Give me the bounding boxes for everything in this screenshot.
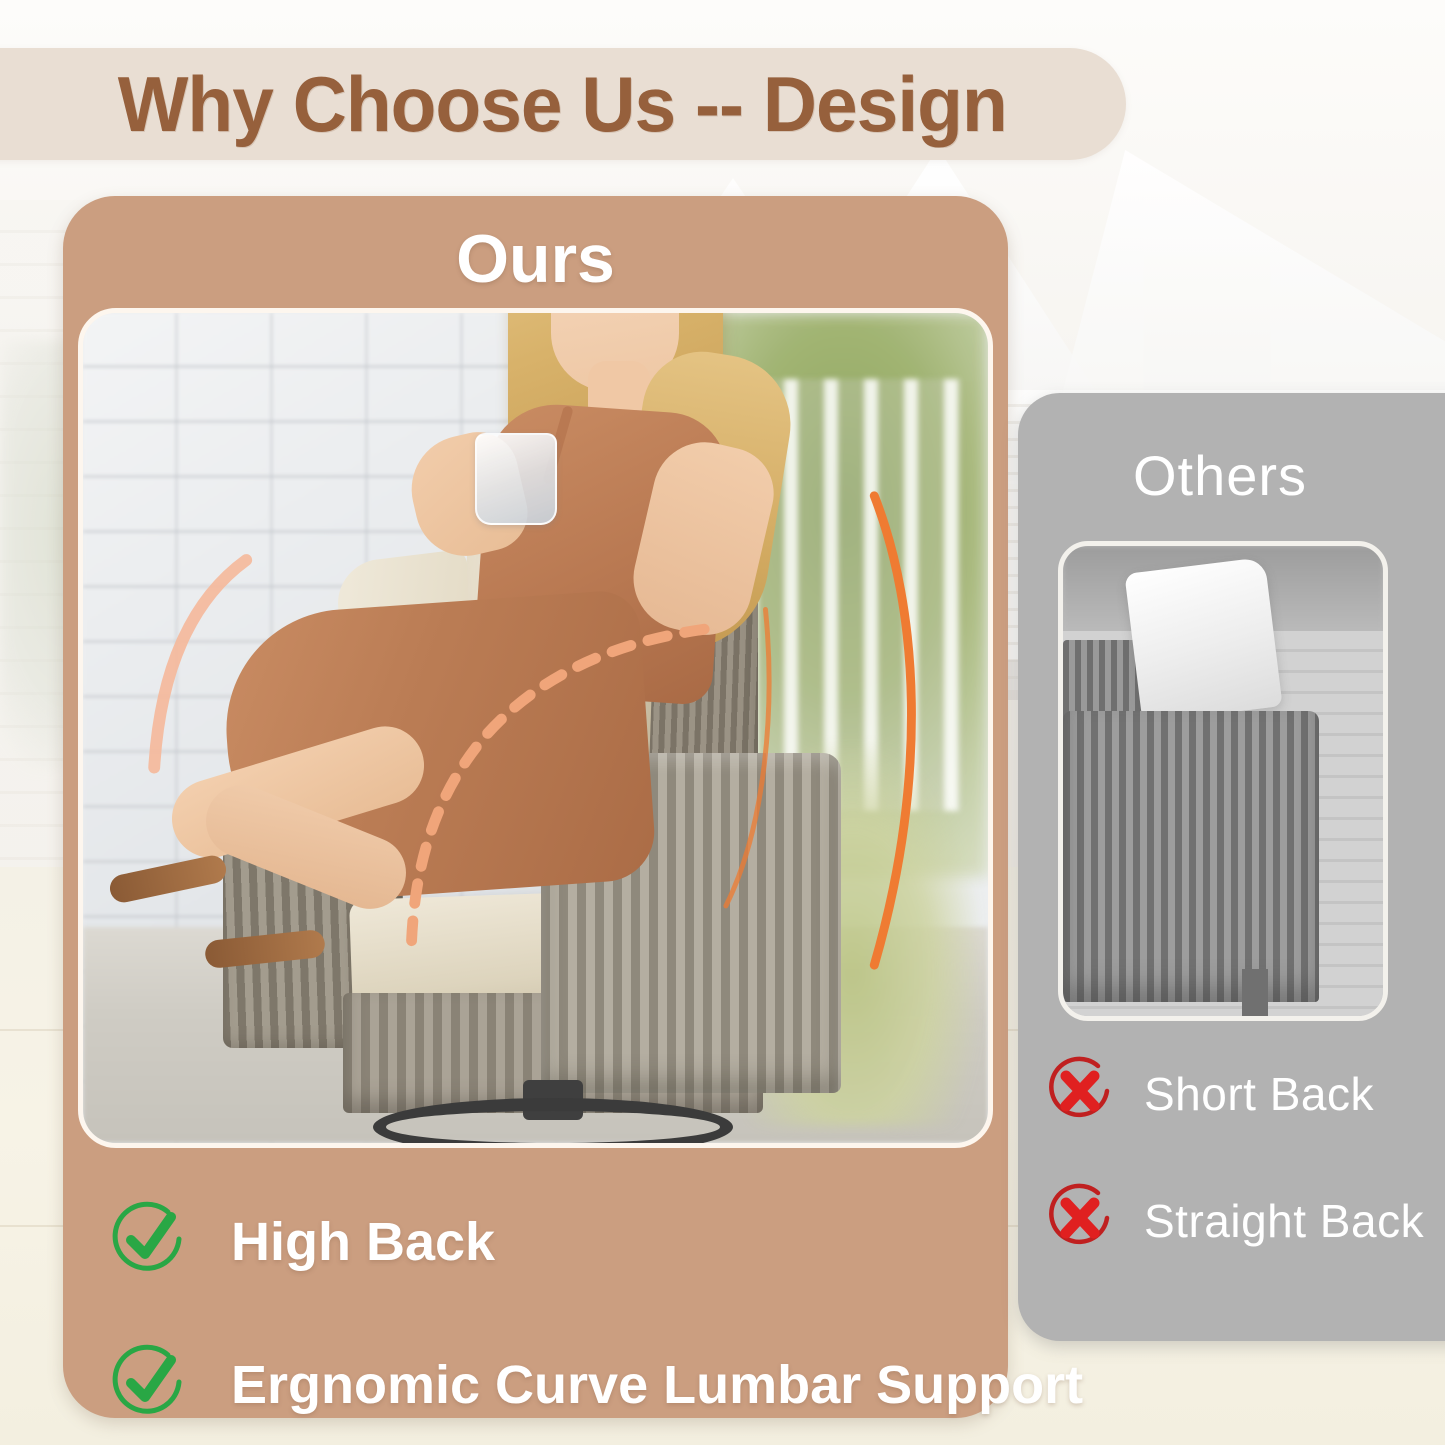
drinking-glass — [475, 433, 557, 525]
others-panel: Others Short Back — [1018, 393, 1445, 1341]
person-sandal-left — [107, 853, 228, 905]
others-sofa-leg — [1242, 969, 1268, 1016]
others-heading: Others — [1018, 443, 1422, 508]
others-feature-label: Short Back — [1144, 1067, 1374, 1121]
x-circle-icon — [1042, 1180, 1118, 1261]
ours-feature-list: High Back Ergnomic Curve Lumbar Support — [105, 1196, 975, 1445]
title-banner: Why Choose Us -- Design — [0, 48, 1126, 160]
ours-product-photo — [78, 308, 993, 1148]
ours-feature-label: Ergnomic Curve Lumbar Support — [231, 1354, 1083, 1416]
page-title: Why Choose Us -- Design — [79, 59, 1006, 150]
model-person — [83, 313, 988, 1143]
others-product-photo — [1058, 541, 1388, 1021]
ours-feature-label: High Back — [231, 1211, 495, 1273]
x-circle-icon — [1042, 1053, 1118, 1134]
others-feature-label: Straight Back — [1144, 1194, 1424, 1248]
person-sandal-right — [204, 929, 326, 969]
ours-heading: Ours — [63, 220, 1008, 298]
others-feature-list: Short Back Straight Back — [1042, 1053, 1445, 1307]
infographic-canvas: Why Choose Us -- Design Ours — [0, 0, 1445, 1445]
check-circle-icon — [105, 1196, 191, 1287]
ours-feature-item: High Back — [105, 1196, 975, 1287]
others-pillow — [1125, 557, 1283, 723]
ours-feature-item: Ergnomic Curve Lumbar Support — [105, 1339, 975, 1430]
others-feature-item: Short Back — [1042, 1053, 1445, 1134]
check-circle-icon — [105, 1339, 191, 1430]
others-feature-item: Straight Back — [1042, 1180, 1445, 1261]
ours-panel: Ours — [63, 196, 1008, 1418]
others-sofa-body — [1063, 711, 1319, 1002]
